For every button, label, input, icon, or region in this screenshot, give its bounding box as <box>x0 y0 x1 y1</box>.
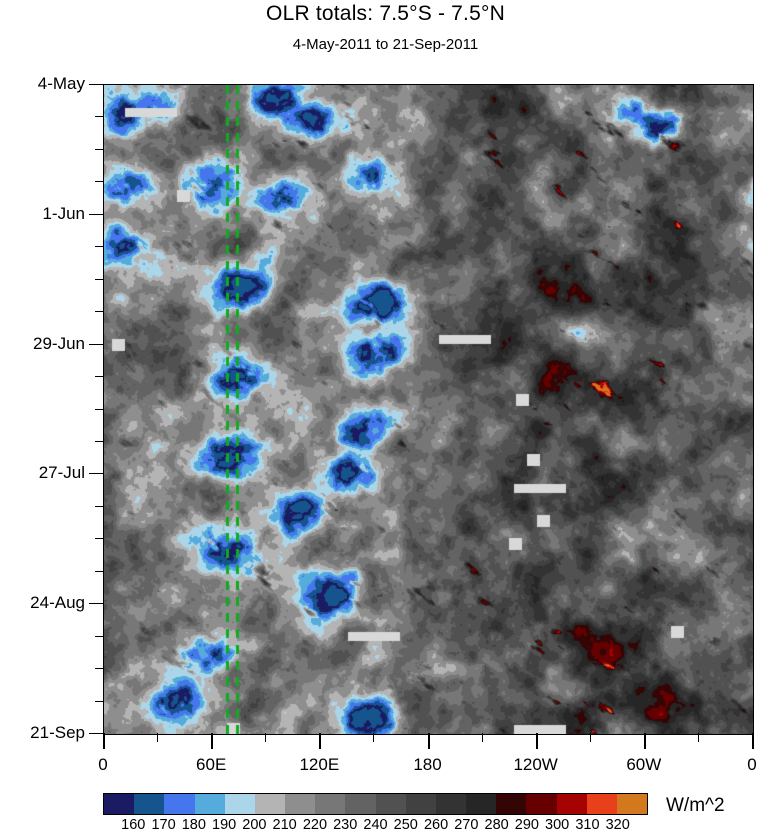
y-axis-minor-tick <box>95 149 103 150</box>
colorbar-tick-label: 240 <box>363 817 387 833</box>
colorbar-swatch <box>225 794 255 814</box>
colorbar-swatch <box>285 794 315 814</box>
colorbar-tick-label: 280 <box>485 817 509 833</box>
colorbar-swatch <box>315 794 345 814</box>
y-axis-minor-tick <box>95 571 103 572</box>
x-axis-tick-label: 60W <box>626 755 661 775</box>
colorbar-swatch <box>195 794 225 814</box>
y-axis-tick-label: 29-Jun <box>33 334 85 354</box>
y-axis: 4-May1-Jun29-Jun27-Jul24-Aug21-Sep <box>0 84 103 736</box>
y-axis-tick-label: 24-Aug <box>30 593 85 613</box>
colorbar-swatch <box>104 794 134 814</box>
x-axis-major-tick <box>319 733 321 749</box>
colorbar-unit-label: W/m^2 <box>666 795 725 817</box>
x-axis-major-tick <box>536 733 538 749</box>
colorbar-tick-label: 180 <box>182 817 206 833</box>
y-axis-minor-tick <box>95 668 103 669</box>
colorbar-swatch <box>496 794 526 814</box>
colorbar-swatch <box>617 794 647 814</box>
y-axis-tick-label: 4-May <box>38 74 85 94</box>
colorbar-swatch <box>406 794 436 814</box>
colorbar-tick-label: 320 <box>606 817 630 833</box>
x-axis-tick-label: 120E <box>299 755 339 775</box>
y-axis-major-tick <box>89 214 103 215</box>
y-axis-minor-tick <box>95 636 103 637</box>
colorbar-tick-label: 170 <box>151 817 175 833</box>
colorbar-tick-label: 220 <box>303 817 327 833</box>
y-axis-major-tick <box>89 84 103 85</box>
y-axis-minor-tick <box>95 246 103 247</box>
x-axis-major-tick <box>644 733 646 749</box>
x-axis-minor-tick <box>590 733 591 742</box>
x-axis-tick-label: 0 <box>747 755 756 775</box>
y-axis-minor-tick <box>95 311 103 312</box>
chart-title: OLR totals: 7.5°S - 7.5°N <box>0 2 771 26</box>
x-axis: 060E120E180120W60W0 <box>103 733 755 793</box>
colorbar-swatch <box>557 794 587 814</box>
y-axis-major-tick <box>89 733 103 734</box>
y-axis-minor-tick <box>95 409 103 410</box>
colorbar-swatch <box>255 794 285 814</box>
y-axis-minor-tick <box>95 506 103 507</box>
colorbar-swatch <box>436 794 466 814</box>
y-axis-minor-tick <box>95 441 103 442</box>
y-axis-major-tick <box>89 344 103 345</box>
y-axis-minor-tick <box>95 279 103 280</box>
x-axis-tick-label: 180 <box>413 755 441 775</box>
colorbar-tick-label: 310 <box>575 817 599 833</box>
y-axis-minor-tick <box>95 701 103 702</box>
x-axis-tick-label: 120W <box>513 755 557 775</box>
x-axis-tick-label: 60E <box>196 755 226 775</box>
colorbar-swatch <box>345 794 375 814</box>
colorbar-swatch <box>466 794 496 814</box>
x-axis-minor-tick <box>482 733 483 742</box>
colorbar: 1601701801902002102202302402502602702802… <box>103 793 648 815</box>
colorbar-tick-label: 250 <box>394 817 418 833</box>
chart-subtitle: 4-May-2011 to 21-Sep-2011 <box>0 36 771 53</box>
y-axis-major-tick <box>89 473 103 474</box>
y-axis-minor-tick <box>95 181 103 182</box>
colorbar-swatch <box>526 794 556 814</box>
y-axis-major-tick <box>89 603 103 604</box>
colorbar-tick-label: 260 <box>424 817 448 833</box>
colorbar-tick-label: 190 <box>212 817 236 833</box>
colorbar-swatch <box>376 794 406 814</box>
colorbar-tick-label: 160 <box>121 817 145 833</box>
colorbar-tick-label: 270 <box>454 817 478 833</box>
x-axis-major-tick <box>211 733 213 749</box>
y-axis-tick-label: 27-Jul <box>39 463 85 483</box>
y-axis-tick-label: 1-Jun <box>42 204 85 224</box>
hovmoller-plot-area <box>103 84 754 735</box>
colorbar-tick-label: 210 <box>273 817 297 833</box>
hovmoller-heatmap-canvas <box>104 85 753 734</box>
colorbar-tick-label: 230 <box>333 817 357 833</box>
y-axis-minor-tick <box>95 116 103 117</box>
x-axis-major-tick <box>752 733 754 749</box>
y-axis-minor-tick <box>95 538 103 539</box>
colorbar-swatch <box>134 794 164 814</box>
colorbar-swatch <box>164 794 194 814</box>
x-axis-minor-tick <box>698 733 699 742</box>
x-axis-minor-tick <box>157 733 158 742</box>
x-axis-major-tick <box>428 733 430 749</box>
y-axis-tick-label: 21-Sep <box>30 723 85 743</box>
colorbar-swatches <box>103 793 648 815</box>
colorbar-tick-label: 290 <box>515 817 539 833</box>
x-axis-minor-tick <box>373 733 374 742</box>
colorbar-tick-label: 300 <box>545 817 569 833</box>
x-axis-major-tick <box>103 733 105 749</box>
colorbar-tick-label: 200 <box>242 817 266 833</box>
x-axis-tick-label: 0 <box>98 755 107 775</box>
colorbar-swatch <box>587 794 617 814</box>
x-axis-minor-tick <box>265 733 266 742</box>
y-axis-minor-tick <box>95 376 103 377</box>
